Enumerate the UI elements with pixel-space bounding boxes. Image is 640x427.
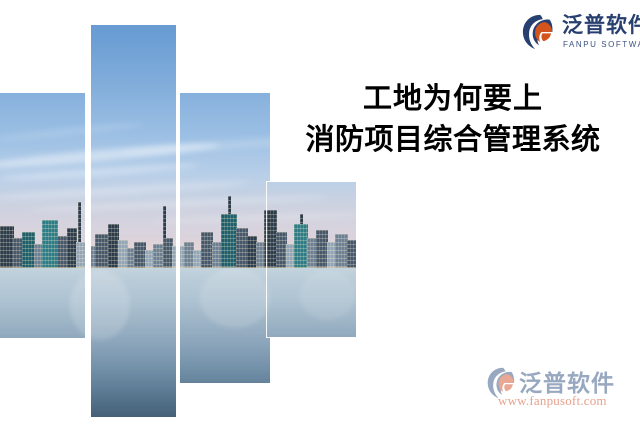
water-ripple	[180, 287, 270, 288]
water-ripple	[91, 296, 176, 297]
water-ripple	[91, 305, 176, 306]
skyline-scene	[180, 93, 270, 383]
water-ripple	[91, 413, 176, 414]
city-buildings	[0, 196, 85, 272]
cloud-streak	[91, 120, 145, 143]
water-ripple	[267, 296, 356, 297]
water-ripple	[0, 323, 85, 324]
water-ripple	[91, 287, 176, 288]
water-ripple	[91, 386, 176, 387]
cloud-streak	[0, 120, 85, 143]
slide-canvas: 泛普软件 FANPU SOFTWARE 工地为何要上 消防项目综合管理系统 泛普…	[0, 0, 640, 427]
water-ripple	[267, 332, 356, 333]
brand-name-cn: 泛普软件	[562, 14, 640, 38]
fanpu-swoosh-logo-icon	[521, 13, 559, 51]
water-ripple	[180, 368, 270, 369]
water-reflection	[200, 268, 270, 328]
panel-1	[0, 93, 85, 338]
water-ripple	[91, 323, 176, 324]
panel-4	[267, 182, 356, 337]
water-ripple	[91, 359, 176, 360]
headline-line-1: 工地为何要上	[272, 78, 634, 119]
cloud-streak	[180, 161, 200, 183]
water-ripple	[180, 305, 270, 306]
panel-2	[91, 25, 176, 417]
water-ripple	[180, 278, 270, 279]
cloud-streak	[180, 132, 270, 157]
skyline-scene	[267, 182, 356, 337]
water-ripple	[0, 278, 85, 279]
panel-3	[180, 93, 270, 383]
brand-logo: 泛普软件 FANPU SOFTWARE	[521, 11, 633, 57]
cloud-streak	[0, 140, 85, 172]
water-ripple	[180, 332, 270, 333]
water-ripple	[267, 314, 356, 315]
building	[221, 214, 237, 272]
water-ripple	[91, 278, 176, 279]
building	[42, 220, 58, 272]
water-ripple	[91, 332, 176, 333]
water-ripple	[180, 341, 270, 342]
water-ripple	[180, 377, 270, 378]
page-title: 工地为何要上 消防项目综合管理系统	[272, 78, 634, 160]
water-ripple	[267, 323, 356, 324]
water-ripple	[91, 404, 176, 405]
headline-line-2: 消防项目综合管理系统	[272, 119, 634, 160]
watermark: 泛普软件 www.fanpusoft.com	[486, 362, 638, 418]
city-buildings	[180, 196, 270, 272]
city-skyline-montage	[0, 0, 360, 427]
water-ripple	[91, 350, 176, 351]
skyline-scene	[91, 25, 176, 417]
water-ripple	[91, 368, 176, 369]
water-ripple	[180, 314, 270, 315]
water-ripple	[267, 278, 356, 279]
watermark-url: www.fanpusoft.com	[498, 393, 607, 409]
water-ripple	[91, 314, 176, 315]
building	[294, 224, 308, 272]
water-ripple	[0, 287, 85, 288]
water-ripple	[180, 359, 270, 360]
water-ripple	[180, 323, 270, 324]
water-ripple	[267, 305, 356, 306]
skyline-scene	[0, 93, 85, 338]
water-ripple	[0, 332, 85, 333]
city-buildings	[267, 196, 356, 272]
water-ripple	[91, 341, 176, 342]
city-buildings	[91, 196, 176, 272]
water-ripple	[0, 305, 85, 306]
water-ripple	[0, 296, 85, 297]
water-ripple	[91, 377, 176, 378]
brand-name-en: FANPU SOFTWARE	[563, 40, 640, 49]
building	[0, 226, 14, 272]
water-ripple	[180, 350, 270, 351]
water-ripple	[0, 314, 85, 315]
water-ripple	[267, 287, 356, 288]
cloud-streak	[91, 161, 176, 183]
water-ripple	[91, 395, 176, 396]
water-ripple	[180, 296, 270, 297]
